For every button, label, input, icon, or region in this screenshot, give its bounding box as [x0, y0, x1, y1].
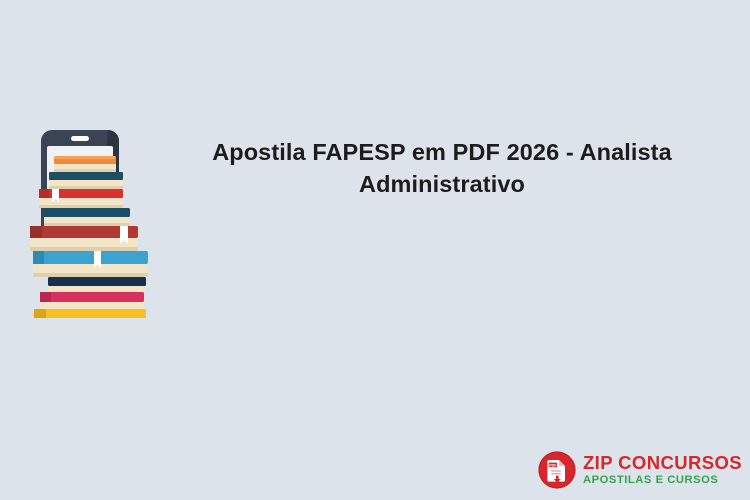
svg-text:PDF: PDF	[549, 463, 557, 467]
book-darknavy-thin	[48, 277, 146, 292]
page-title-line-2: Administrativo	[192, 168, 692, 200]
book-pink	[40, 292, 144, 309]
logo-text-group: ZIP CONCURSOS APOSTILAS E CURSOS	[583, 454, 742, 487]
page-title-line-1: Apostila FAPESP em PDF 2026 - Analista	[192, 136, 692, 168]
book-maroon	[30, 226, 138, 251]
book-orange-top	[54, 156, 116, 172]
page-title: Apostila FAPESP em PDF 2026 - Analista A…	[192, 136, 692, 200]
logo-tagline: APOSTILAS E CURSOS	[583, 475, 742, 486]
logo-brand-name: ZIP CONCURSOS	[583, 454, 742, 473]
book-navy-upper	[49, 172, 123, 189]
book-yellow	[34, 309, 146, 318]
stack-of-books-with-tablet-illustration	[8, 128, 173, 318]
book-navy-mid	[44, 208, 130, 226]
promo-banner: Apostila FAPESP em PDF 2026 - Analista A…	[0, 0, 750, 500]
pdf-download-icon: PDF	[538, 451, 576, 489]
book-cyan	[33, 251, 148, 277]
zip-concursos-logo[interactable]: PDF ZIP CONCURSOS APOSTILAS E CURSOS	[538, 448, 742, 492]
book-red-upper	[39, 189, 123, 208]
